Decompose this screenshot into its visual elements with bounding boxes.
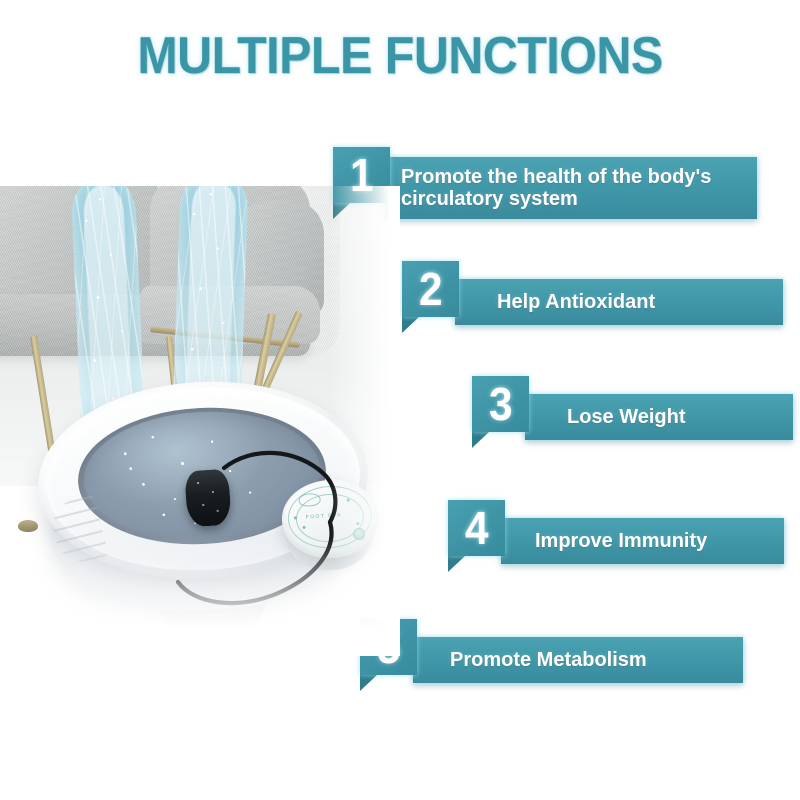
function-number-3: 3 — [489, 381, 513, 427]
function-number-2: 2 — [419, 266, 443, 312]
function-badge-3[interactable]: 3 — [472, 376, 529, 432]
function-bar-1[interactable]: Promote the health of the body's circula… — [385, 157, 757, 219]
function-bar-2[interactable]: Help Antioxidant — [455, 279, 783, 325]
foot-spa-basin: FOOT SPA — [38, 382, 390, 632]
power-cable — [38, 382, 390, 632]
function-label-3: Lose Weight — [567, 406, 686, 428]
page-title: MULTIPLE FUNCTIONS — [28, 26, 772, 86]
function-badge-1[interactable]: 1 — [333, 147, 390, 203]
function-label-1: Promote the health of the body's circula… — [401, 166, 711, 211]
function-badge-4[interactable]: 4 — [448, 500, 505, 556]
function-label-4: Improve Immunity — [535, 530, 707, 552]
badge-fold-5 — [360, 675, 377, 691]
badge-fold-3 — [472, 432, 489, 448]
function-bar-3[interactable]: Lose Weight — [525, 394, 793, 440]
function-number-4: 4 — [465, 505, 489, 551]
badge-fold-4 — [448, 556, 465, 572]
infographic-root: MULTIPLE FUNCTIONS — [0, 0, 800, 800]
function-bar-4[interactable]: Improve Immunity — [501, 518, 784, 564]
function-bar-5[interactable]: Promote Metabolism — [413, 637, 743, 683]
product-photo: FOOT SPA — [0, 186, 400, 656]
badge-fold-1 — [333, 203, 350, 219]
function-badge-2[interactable]: 2 — [402, 261, 459, 317]
badge-fold-2 — [402, 317, 419, 333]
function-label-5: Promote Metabolism — [450, 649, 647, 671]
function-number-1: 1 — [350, 152, 374, 198]
chair-leg-foot — [18, 520, 38, 532]
function-label-2: Help Antioxidant — [497, 291, 655, 313]
